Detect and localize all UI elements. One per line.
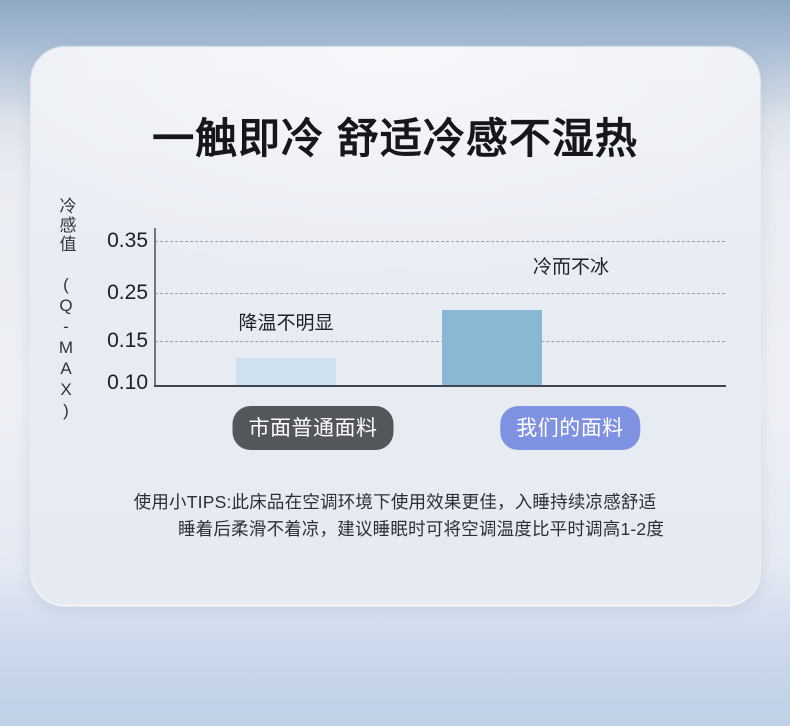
usage-tips-line-1: 使用小TIPS:此床品在空调环境下使用效果更佳，入睡持续凉感舒适 [134, 492, 657, 512]
y-tick-2: 0.15 [92, 329, 148, 353]
y-tick-0: 0.35 [92, 229, 148, 253]
page-title: 一触即冷 舒适冷感不湿热 [0, 105, 790, 166]
bar-market-fabric[interactable] [236, 358, 336, 386]
category-pill-our-fabric[interactable]: 我们的面料 [500, 406, 640, 450]
bar-annotation-market-fabric: 降温不明显 [238, 308, 333, 335]
category-pill-market-fabric[interactable]: 市面普通面料 [233, 406, 394, 450]
y-tick-3: 0.10 [92, 371, 148, 395]
usage-tips-line-2: 睡着后柔滑不着凉，建议睡眠时可将空调温度比平时调高1-2度 [0, 516, 790, 543]
bar-our-fabric[interactable] [442, 310, 542, 386]
y-tick-1: 0.25 [92, 281, 148, 305]
bar-annotation-our-fabric: 冷而不冰 [533, 252, 609, 279]
usage-tips: 使用小TIPS:此床品在空调环境下使用效果更佳，入睡持续凉感舒适 睡着后柔滑不着… [0, 489, 790, 543]
y-axis-title: 冷感值 (Q-MAX) [45, 222, 87, 397]
